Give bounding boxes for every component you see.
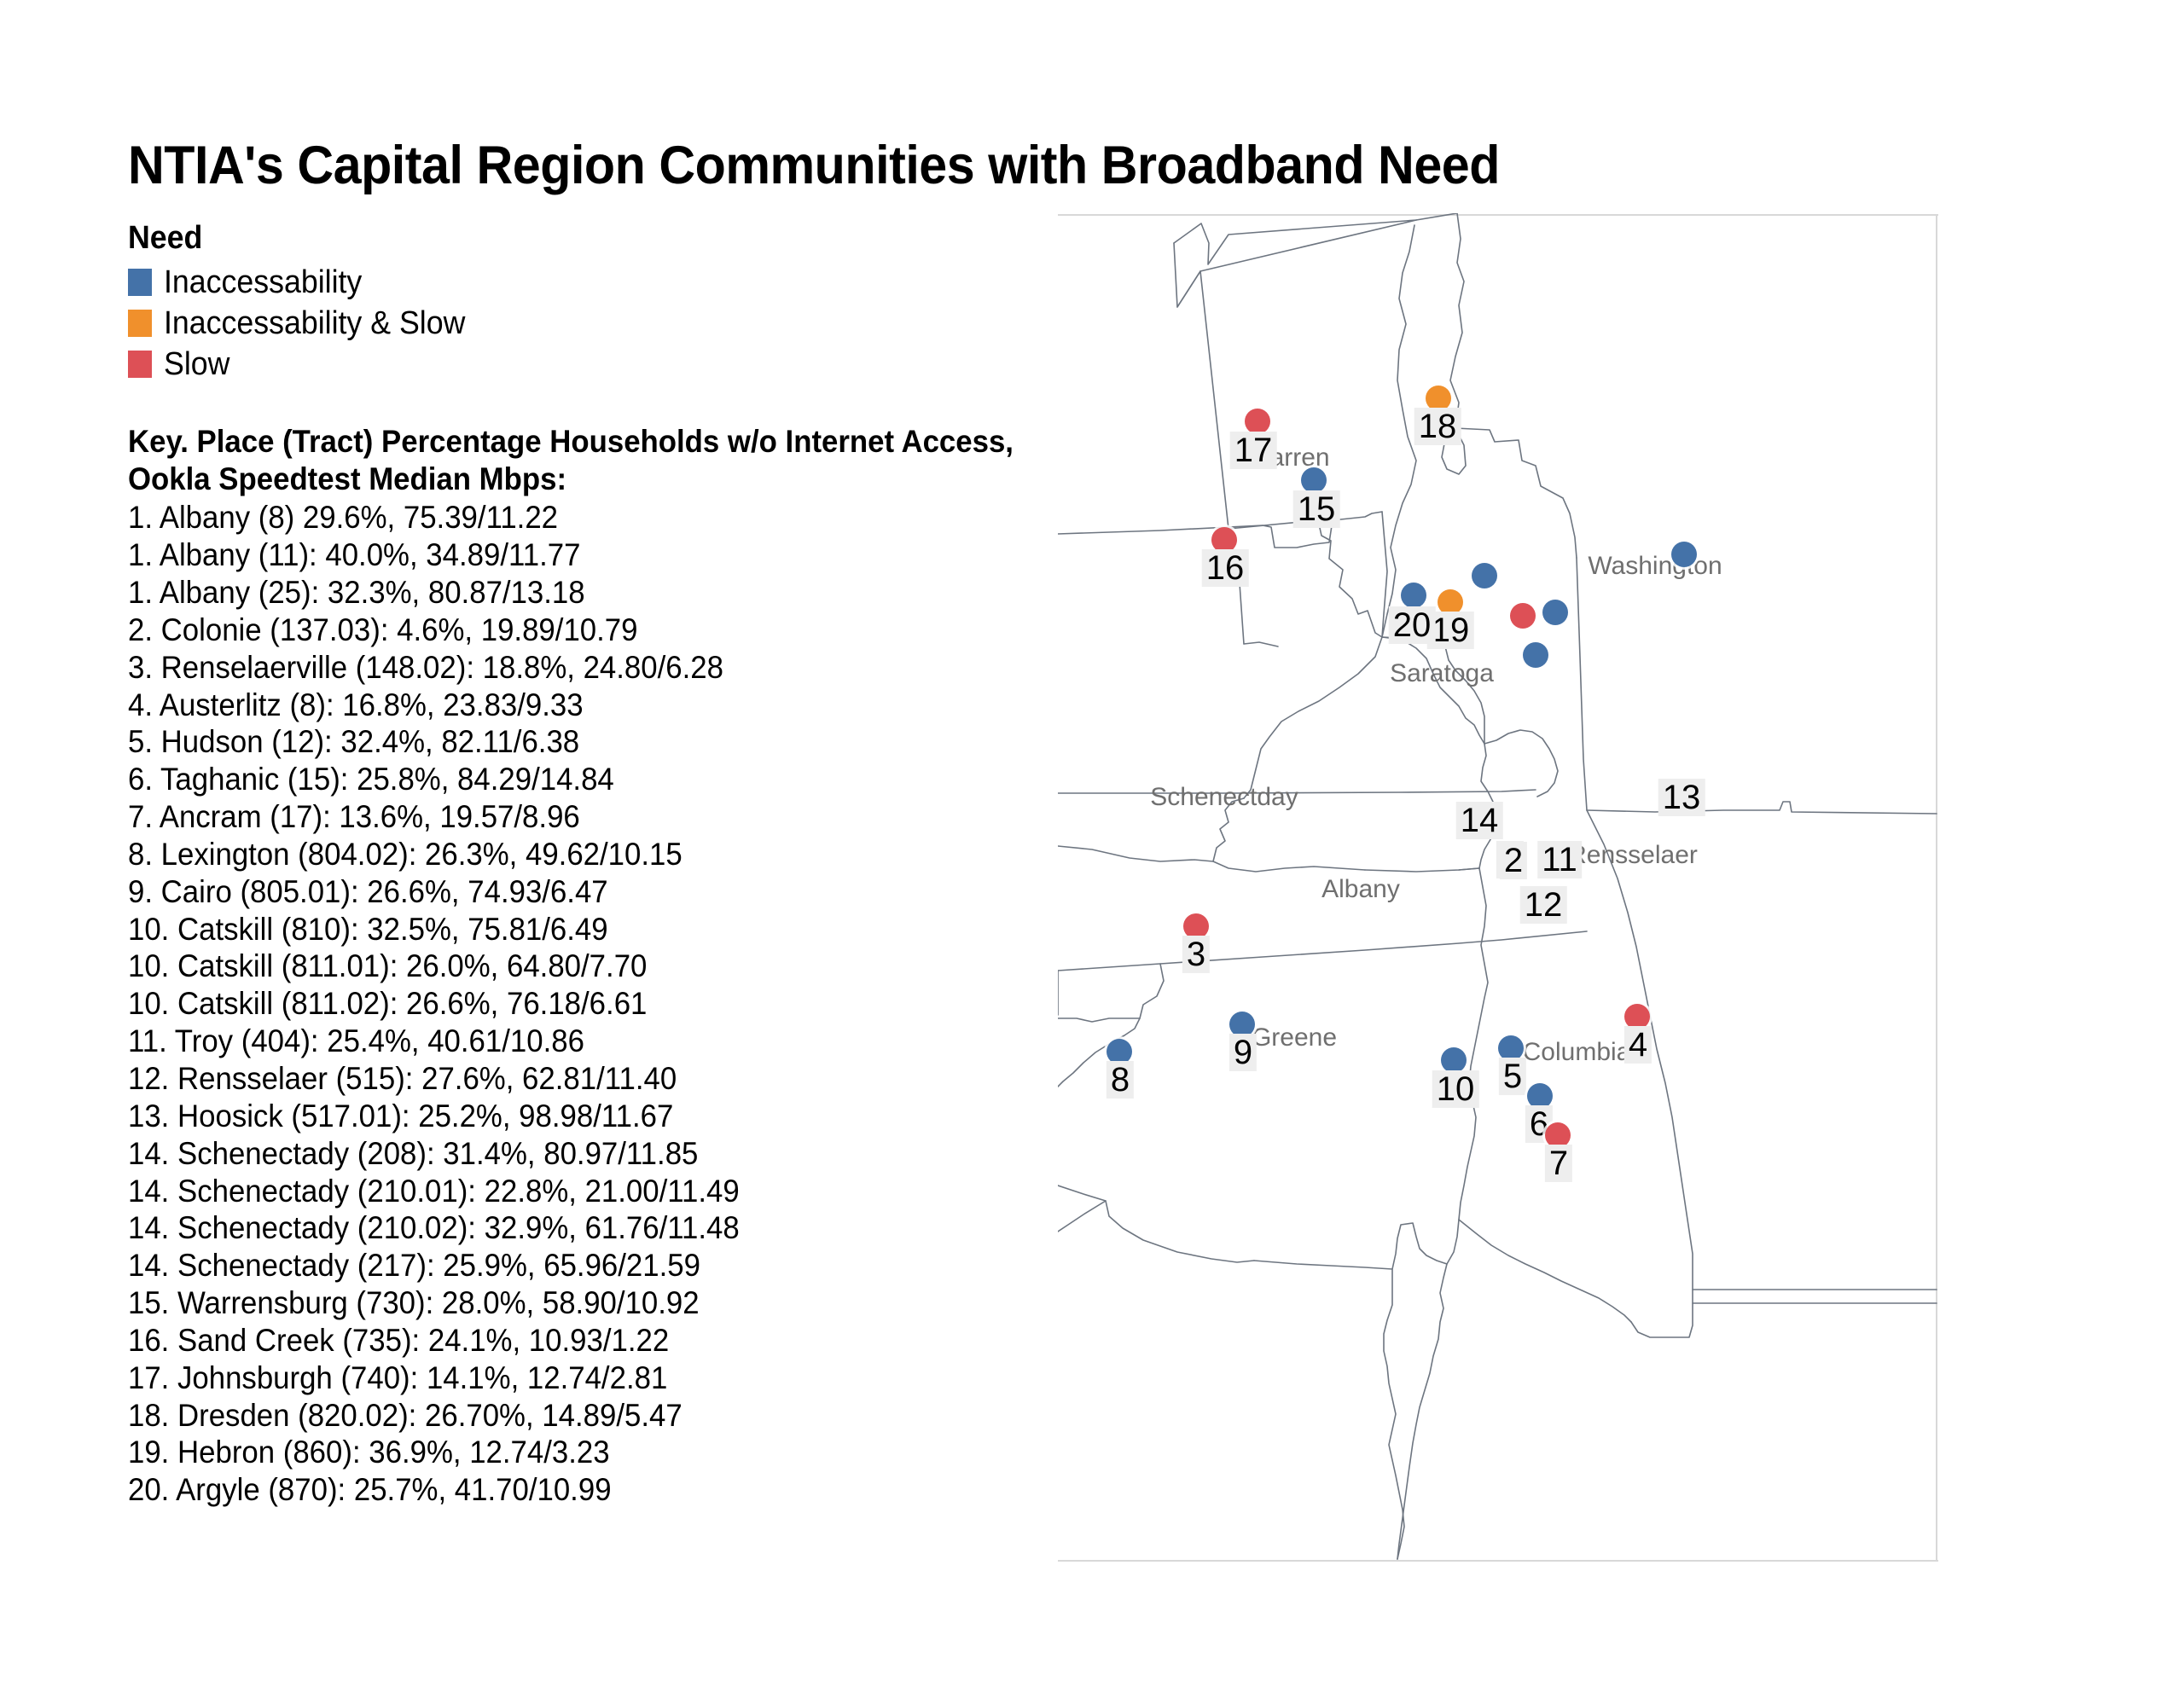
key-list-item: 17. Johnsburgh (740): 14.1%, 12.74/2.81 (128, 1359, 1026, 1397)
key-list-item: 1. Albany (8) 29.6%, 75.39/11.22 (128, 499, 1026, 536)
key-list-item: 10. Catskill (811.02): 26.6%, 76.18/6.61 (128, 985, 1026, 1023)
county-label-rensselaer: Rensselaer (1568, 841, 1698, 870)
legend-item-inaccessability[interactable]: Inaccessability (128, 262, 896, 303)
key-list-item: 1. Albany (25): 32.3%, 80.87/13.18 (128, 574, 1026, 612)
key-list-item: 9. Cairo (805.01): 26.6%, 74.93/6.47 (128, 873, 1026, 911)
map-marker-label-11: 11 (1537, 841, 1582, 878)
county-label-albany: Albany (1321, 875, 1400, 904)
map-marker-label-15: 15 (1293, 490, 1340, 528)
key-list-item: 11. Troy (404): 25.4%, 40.61/10.86 (128, 1023, 1026, 1060)
map-marker-20[interactable] (1401, 583, 1426, 608)
map-marker-label-14: 14 (1456, 802, 1503, 839)
map-marker-14[interactable] (1472, 563, 1497, 588)
map-marker-label-20: 20 (1389, 606, 1436, 644)
key-list-item: 13. Hoosick (517.01): 25.2%, 98.98/11.67 (128, 1098, 1026, 1135)
key-heading: Key. Place (Tract) Percentage Households… (128, 423, 1083, 497)
county-label-greene: Greene (1252, 1023, 1337, 1052)
key-list-item: 14. Schenectady (208): 31.4%, 80.97/11.8… (128, 1135, 1026, 1173)
key-list-item: 12. Rensselaer (515): 27.6%, 62.81/11.40 (128, 1060, 1026, 1098)
key-heading-line1: Key. Place (Tract) Percentage Households… (128, 423, 1083, 461)
key-list-item: 14. Schenectady (210.02): 32.9%, 61.76/1… (128, 1209, 1026, 1247)
key-list-item: 19. Hebron (860): 36.9%, 12.74/3.23 (128, 1434, 1026, 1471)
map-marker-17[interactable] (1245, 409, 1270, 434)
legend-label-inaccessability-slow: Inaccessability & Slow (164, 307, 465, 339)
page-title: NTIA's Capital Region Communities with B… (128, 135, 1500, 196)
key-heading-line2: Ookla Speedtest Median Mbps: (128, 461, 1083, 498)
map-marker-2[interactable] (1510, 603, 1536, 629)
legend: Need Inaccessability Inaccessability & S… (128, 220, 896, 385)
county-label-columbia: Columbia (1523, 1038, 1631, 1067)
map-marker-label-5: 5 (1499, 1058, 1526, 1095)
county-label-saratoga: Saratoga (1390, 659, 1494, 688)
map-marker-10[interactable] (1441, 1047, 1467, 1073)
map-marker-label-12: 12 (1520, 886, 1567, 924)
map-marker-label-7: 7 (1545, 1145, 1572, 1182)
legend-item-inaccessability-slow[interactable]: Inaccessability & Slow (128, 303, 896, 344)
key-list-item: 10. Catskill (810): 32.5%, 75.81/6.49 (128, 911, 1026, 948)
key-list: 1. Albany (8) 29.6%, 75.39/11.221. Alban… (128, 499, 1083, 1509)
county-boundaries-map (1058, 213, 1938, 1562)
key-list-item: 10. Catskill (811.01): 26.0%, 64.80/7.70 (128, 948, 1026, 985)
map-marker-15[interactable] (1301, 467, 1327, 493)
key-list-item: 14. Schenectady (210.01): 22.8%, 21.00/1… (128, 1173, 1026, 1210)
key-list-item: 16. Sand Creek (735): 24.1%, 10.93/1.22 (128, 1322, 1026, 1359)
map-marker-label-16: 16 (1202, 549, 1249, 587)
map-marker-label-17: 17 (1230, 432, 1277, 469)
county-label-schenectday: Schenectday (1150, 783, 1298, 812)
legend-item-slow[interactable]: Slow (128, 344, 896, 385)
map-marker-label-4: 4 (1624, 1026, 1652, 1064)
legend-swatch-inaccessability (128, 269, 152, 296)
map-marker-label-13: 13 (1658, 779, 1705, 816)
key-list-item: 20. Argyle (870): 25.7%, 41.70/10.99 (128, 1471, 1026, 1509)
legend-swatch-inaccessability-slow (128, 310, 152, 337)
key-list-item: 14. Schenectady (217): 25.9%, 65.96/21.5… (128, 1247, 1026, 1284)
legend-label-inaccessability: Inaccessability (164, 266, 362, 299)
legend-label-slow: Slow (164, 348, 229, 380)
map-marker-label-3: 3 (1182, 936, 1210, 973)
key-list-item: 15. Warrensburg (730): 28.0%, 58.90/10.9… (128, 1284, 1026, 1322)
map-marker-label-8: 8 (1107, 1061, 1134, 1099)
key-list-item: 2. Colonie (137.03): 4.6%, 19.89/10.79 (128, 612, 1026, 649)
key-list-item: 1. Albany (11): 40.0%, 34.89/11.77 (128, 536, 1026, 574)
map-marker-label-18: 18 (1414, 408, 1461, 445)
key-list-item: 4. Austerlitz (8): 16.8%, 23.83/9.33 (128, 687, 1026, 724)
map-marker-11[interactable] (1542, 600, 1568, 625)
legend-title: Need (128, 220, 850, 257)
map-marker-12[interactable] (1523, 642, 1548, 668)
key-list-item: 6. Taghanic (15): 25.8%, 84.29/14.84 (128, 761, 1026, 798)
key-list-item: 3. Renselaerville (148.02): 18.8%, 24.80… (128, 649, 1026, 687)
map-marker-label-9: 9 (1229, 1034, 1257, 1071)
key-list-item: 5. Hudson (12): 32.4%, 82.11/6.38 (128, 723, 1026, 761)
county-label-washington: Washington (1588, 552, 1722, 581)
key-list-item: 8. Lexington (804.02): 26.3%, 49.62/10.1… (128, 836, 1026, 873)
legend-swatch-slow (128, 351, 152, 378)
map-marker-13[interactable] (1671, 542, 1697, 567)
key-block: Key. Place (Tract) Percentage Households… (128, 423, 1083, 1509)
map-marker-label-10: 10 (1432, 1070, 1479, 1108)
map-panel[interactable]: WarrenWashingtonSaratogaSchenectdayRenss… (1058, 213, 1938, 1562)
map-marker-label-2: 2 (1500, 842, 1527, 879)
key-list-item: 18. Dresden (820.02): 26.70%, 14.89/5.47 (128, 1397, 1026, 1435)
key-list-item: 7. Ancram (17): 13.6%, 19.57/8.96 (128, 798, 1026, 836)
